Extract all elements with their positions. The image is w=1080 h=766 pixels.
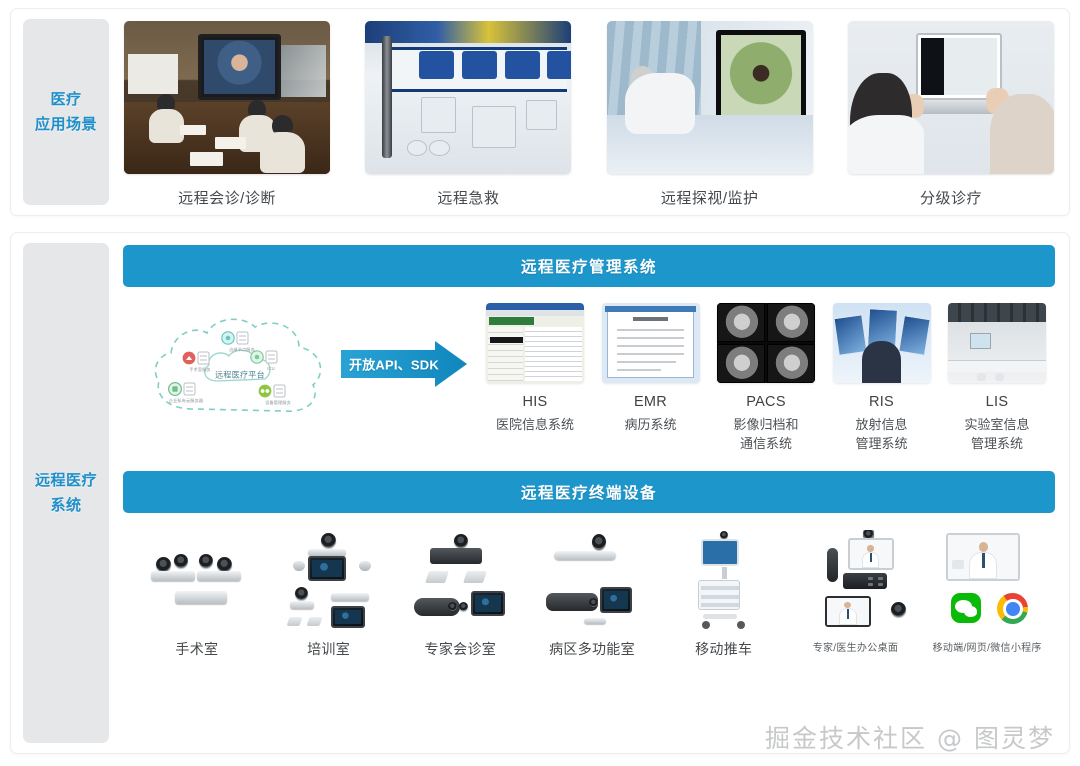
system-name-line: 管理系统 <box>964 434 1029 453</box>
system-name-line: 管理系统 <box>855 434 907 453</box>
scenario-item[interactable]: 远程会诊/诊断 <box>123 21 331 208</box>
emr-screenshot <box>602 303 700 383</box>
cloud-node-label: ICU <box>267 366 275 371</box>
ward-multifunction-bar <box>528 529 656 633</box>
cloud-node-label: 边缘节点服务 <box>229 347 255 353</box>
desktop-phone-monitor <box>792 529 920 633</box>
rail-medical-scenarios: 医疗 应用场景 <box>23 19 109 205</box>
ambulance-interior-photo <box>365 21 571 174</box>
rail-label-line-1: 远程医疗 <box>35 468 97 493</box>
system-name: 影像归档和 通信系统 <box>733 415 798 453</box>
terminal-caption: 病区多功能室 <box>549 639 635 659</box>
system-name: 病历系统 <box>624 415 676 434</box>
rail-label-line-2: 应用场景 <box>35 112 97 137</box>
scenario-item[interactable]: 远程急救 <box>364 21 572 208</box>
system-item[interactable]: PACS 影像归档和 通信系统 <box>714 303 818 453</box>
training-room-kit <box>265 529 393 633</box>
terminal-equipment-list: 手术室 <box>123 513 1055 743</box>
page-root: 医疗 应用场景 <box>0 0 1080 766</box>
his-screenshot <box>486 303 584 383</box>
system-name-line: 通信系统 <box>733 434 798 453</box>
operating-room-codecs <box>133 529 261 633</box>
cloud-node-label: 手术室服务 <box>189 367 210 373</box>
terminal-item[interactable]: 专家会诊室 <box>396 529 524 743</box>
scenario-caption: 远程急救 <box>437 187 499 208</box>
hospital-systems-list: HIS 医院信息系统 <box>471 303 1055 453</box>
expert-consult-bar <box>396 529 524 633</box>
arrow-label: 开放API、SDK <box>349 355 439 374</box>
system-name-line: 医院信息系统 <box>496 415 574 434</box>
rail-label-line-1: 医疗 <box>35 87 97 112</box>
terminal-caption: 专家/医生办公桌面 <box>813 639 898 654</box>
terminal-item[interactable]: 培训室 <box>265 529 393 743</box>
system-item[interactable]: LIS 实验室信息 管理系统 <box>945 303 1049 453</box>
scenario-caption: 远程会诊/诊断 <box>178 187 276 208</box>
system-item[interactable]: HIS 医院信息系统 <box>483 303 587 453</box>
band-management-system: 远程医疗管理系统 <box>123 245 1055 287</box>
scenario-item[interactable]: 分级诊疗 <box>847 21 1055 208</box>
system-item[interactable]: EMR 病历系统 <box>599 303 703 453</box>
terminal-caption: 移动端/网页/微信小程序 <box>933 639 1042 654</box>
band-terminal-equipment: 远程医疗终端设备 <box>123 471 1055 513</box>
rail-label-medical-scenarios: 医疗 应用场景 <box>35 87 97 137</box>
terminal-caption: 手术室 <box>175 639 218 659</box>
terminal-caption: 移动推车 <box>695 639 752 659</box>
terminal-caption: 专家会诊室 <box>425 639 497 659</box>
telemedicine-body: 远程医疗管理系统 <box>119 233 1069 753</box>
system-name-line: 影像归档和 <box>733 415 798 434</box>
system-abbr: LIS <box>986 394 1009 410</box>
section-medical-scenarios: 医疗 应用场景 <box>10 8 1070 216</box>
scenario-caption: 分级诊疗 <box>920 187 982 208</box>
lis-laboratory-photo <box>948 303 1046 383</box>
system-name: 实验室信息 管理系统 <box>964 415 1029 453</box>
section-telemedicine-system: 远程医疗 系统 远程医疗管理系统 <box>10 232 1070 754</box>
patient-bed-tv-visit-photo <box>607 21 813 174</box>
system-item[interactable]: RIS 放射信息 管理系统 <box>830 303 934 453</box>
terminal-item[interactable]: 手术室 <box>133 529 261 743</box>
meeting-room-video-consultation-photo <box>124 21 330 174</box>
open-api-arrow: 开放API、SDK <box>341 341 467 387</box>
ris-radiology-photo <box>833 303 931 383</box>
scenario-caption: 远程探视/监护 <box>661 187 759 208</box>
system-name-line: 实验室信息 <box>964 415 1029 434</box>
rail-label-telemedicine-system: 远程医疗 系统 <box>35 468 97 518</box>
system-abbr: EMR <box>634 394 667 410</box>
scenario-list: 远程会诊/诊断 远程急救 <box>119 9 1069 215</box>
pacs-ct-images <box>717 303 815 383</box>
wechat-icon <box>951 593 981 623</box>
system-abbr: HIS <box>522 394 547 410</box>
system-name-line: 病历系统 <box>624 415 676 434</box>
chrome-icon <box>997 593 1028 624</box>
system-name: 放射信息 管理系统 <box>855 415 907 453</box>
cloud-node-label: 企业私有云服务器 <box>169 398 203 404</box>
mobile-cart <box>660 529 788 633</box>
system-abbr: RIS <box>869 394 894 410</box>
doctor-patient-laptop-photo <box>848 21 1054 174</box>
terminal-caption: 培训室 <box>307 639 350 659</box>
system-name-line: 放射信息 <box>855 415 907 434</box>
system-abbr: PACS <box>746 394 786 410</box>
rail-label-line-2: 系统 <box>35 493 97 518</box>
terminal-item[interactable]: 移动端/网页/微信小程序 <box>923 529 1051 743</box>
cloud-center-label: 远程医疗平台 <box>215 370 265 381</box>
telemedicine-cloud-diagram: 远程医疗平台 边缘节点服务 ICU 手术室服务 企业私有云服务器 设备管理服务 <box>145 309 335 429</box>
platform-row: 远程医疗平台 边缘节点服务 ICU 手术室服务 企业私有云服务器 设备管理服务 <box>123 287 1055 457</box>
rail-telemedicine-system: 远程医疗 系统 <box>23 243 109 743</box>
terminal-item[interactable]: 病区多功能室 <box>528 529 656 743</box>
terminal-item[interactable]: 移动推车 <box>660 529 788 743</box>
terminal-item[interactable]: 专家/医生办公桌面 <box>792 529 920 743</box>
cloud-node-label: 设备管理服务 <box>265 400 291 406</box>
scenario-item[interactable]: 远程探视/监护 <box>606 21 814 208</box>
mobile-web-wechat <box>923 529 1051 633</box>
system-name: 医院信息系统 <box>496 415 574 434</box>
